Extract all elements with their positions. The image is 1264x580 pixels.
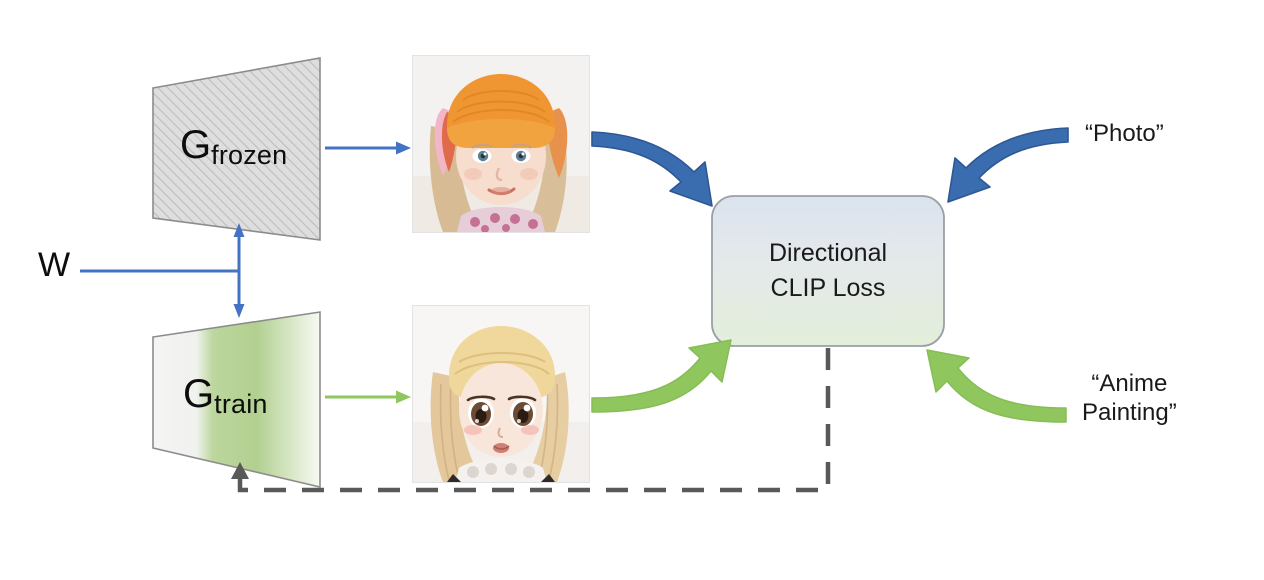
target-prompt-label: “Anime Painting”	[1082, 369, 1177, 428]
generator-frozen-shape	[153, 58, 320, 240]
source-photo-thumbnail	[412, 55, 590, 233]
generator-train-shape	[153, 312, 320, 487]
arrow-frozen-to-photo	[325, 142, 411, 155]
arrow-photo-to-loss	[592, 132, 712, 206]
directional-clip-loss-box	[712, 196, 944, 346]
arrow-photo-text-to-loss	[948, 128, 1068, 202]
source-prompt-label: “Photo”	[1085, 119, 1164, 148]
anime-output-thumbnail	[412, 305, 590, 483]
diagram-canvas: W Gfrozen Gtrain Directional CLIP Loss “…	[0, 0, 1264, 580]
arrow-train-to-anime	[325, 391, 411, 404]
diagram-vector-layer	[0, 0, 1264, 580]
arrow-anime-text-to-loss	[927, 350, 1066, 422]
arrow-anime-to-loss	[592, 340, 731, 412]
